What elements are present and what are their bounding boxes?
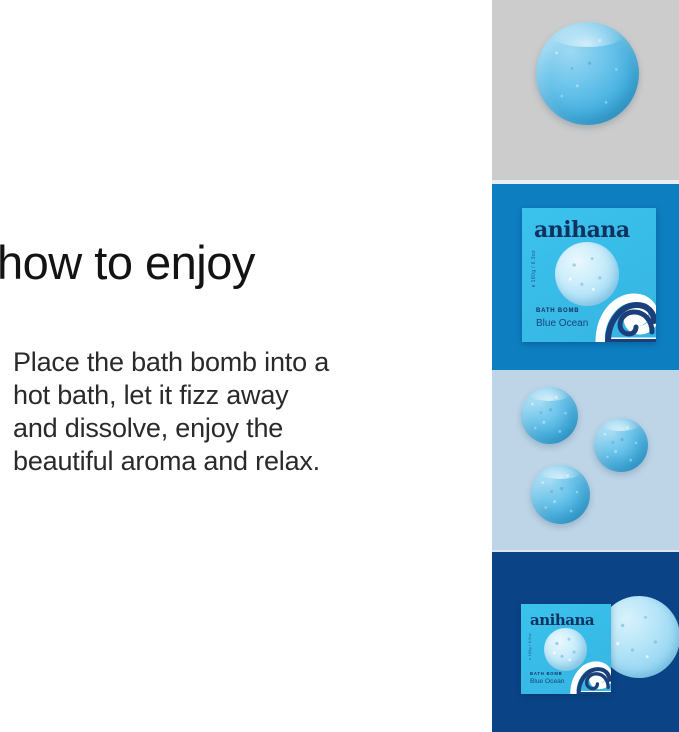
bath-bomb-icon [531,465,590,524]
wave-swirl-icon [561,647,611,694]
product-box: anihana e 180g / 6.3oz BATH BOMB Blue Oc… [521,604,611,694]
bath-bomb-icon [521,387,578,444]
bath-bomb-icon [594,418,648,472]
product-gallery-column: anihana e 180g / 6.3oz BATH BOMB Blue Oc… [492,0,679,732]
bomb-crust-highlight [550,20,624,47]
page-title: how to enjoy [0,236,255,290]
instructions-line: beautiful aroma and relax. [13,445,433,478]
instructions-line: Place the bath bomb into a [13,346,433,379]
product-category-label: BATH BOMB [530,671,562,676]
net-weight-label: e 180g / 6.3oz [528,633,532,660]
brand-logo: anihana [530,611,594,629]
brand-logo: anihana [534,217,630,243]
wave-swirl-icon [582,272,656,342]
gallery-panel-product-box[interactable]: anihana e 180g / 6.3oz BATH BOMB Blue Oc… [492,184,679,370]
bath-bomb-icon [536,22,639,125]
bomb-crust-highlight [529,386,570,401]
gallery-panel-single-bomb[interactable] [492,0,679,180]
product-detail-image: how to enjoy Place the bath bomb into a … [0,0,679,732]
product-box: anihana e 180g / 6.3oz BATH BOMB Blue Oc… [522,208,656,342]
product-category-label: BATH BOMB [536,308,579,314]
instructions-text: Place the bath bomb into a hot bath, let… [13,346,433,478]
product-variant-label: Blue Ocean [536,318,588,329]
gallery-panel-three-bombs[interactable] [492,370,679,552]
instructions-line: hot bath, let it fizz away [13,379,433,412]
product-variant-label: Blue Ocean [530,678,564,685]
bomb-crust-highlight [539,464,581,479]
gallery-panel-box-with-bomb[interactable]: anihana e 180g / 6.3oz BATH BOMB Blue Oc… [492,552,679,732]
copy-panel: how to enjoy Place the bath bomb into a … [0,0,492,732]
instructions-line: and dissolve, enjoy the [13,412,433,445]
net-weight-label: e 180g / 6.3oz [531,250,537,287]
bomb-crust-highlight [602,417,641,431]
